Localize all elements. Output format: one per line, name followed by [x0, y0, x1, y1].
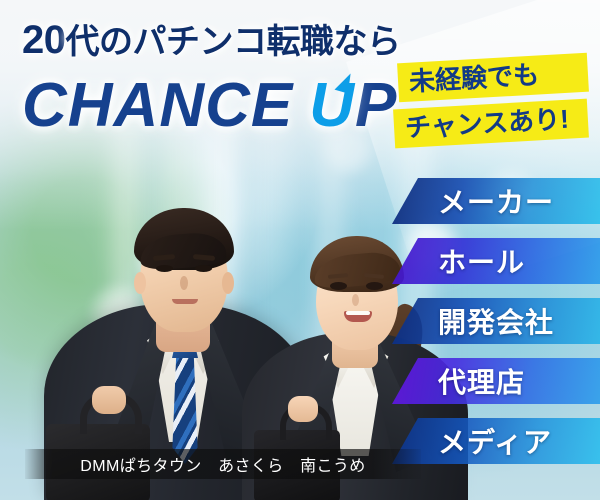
category-button-maker[interactable]: メーカー [392, 178, 600, 224]
category-button-agency[interactable]: 代理店 [392, 358, 600, 404]
category-label: メディア [438, 421, 552, 461]
chance-up-logo: CHANCE U P [22, 70, 397, 141]
woman-nose [352, 294, 359, 306]
woman-eye-left [330, 282, 347, 290]
man-eye-right [195, 265, 212, 272]
callout-block: 未経験でも チャンスあり! [398, 58, 588, 143]
category-button-hall[interactable]: ホール [392, 238, 600, 284]
headline-text: 20代のパチンコ転職なら [22, 14, 401, 63]
category-label: 代理店 [438, 361, 525, 401]
credits-bar: DMMぱちタウン あさくら 南こうめ [25, 449, 421, 479]
man-eye-left [156, 265, 173, 272]
woman-teeth [346, 311, 370, 315]
callout-line-2: チャンスあり! [393, 99, 589, 149]
headline-rest: 代のパチンコ転職なら [66, 23, 401, 61]
category-label: ホール [438, 241, 525, 281]
woman-hand [288, 396, 318, 422]
logo-u-wrapper: U [309, 70, 355, 141]
man-hand [92, 386, 126, 414]
logo-letter-p: P [355, 70, 397, 141]
headline-number: 20 [22, 18, 66, 62]
callout-line-1: 未経験でも [397, 53, 589, 103]
recruitment-banner: 20代のパチンコ転職なら CHANCE U P 未経験でも チャンスあり! メー… [0, 0, 600, 500]
man-ear-right [222, 272, 234, 294]
category-button-development-company[interactable]: 開発会社 [392, 298, 600, 344]
man-ear-left [134, 272, 146, 294]
logo-word-chance: CHANCE [22, 70, 293, 141]
category-button-media[interactable]: メディア [392, 418, 600, 464]
man-nose [180, 276, 188, 290]
category-label: 開発会社 [438, 301, 554, 341]
woman-eye-right [366, 282, 383, 290]
category-button-list: メーカー ホール 開発会社 代理店 メディア [392, 178, 600, 478]
credits-text: DMMぱちタウン あさくら 南こうめ [80, 452, 365, 476]
category-label: メーカー [438, 181, 554, 221]
man-mouth [172, 299, 198, 304]
